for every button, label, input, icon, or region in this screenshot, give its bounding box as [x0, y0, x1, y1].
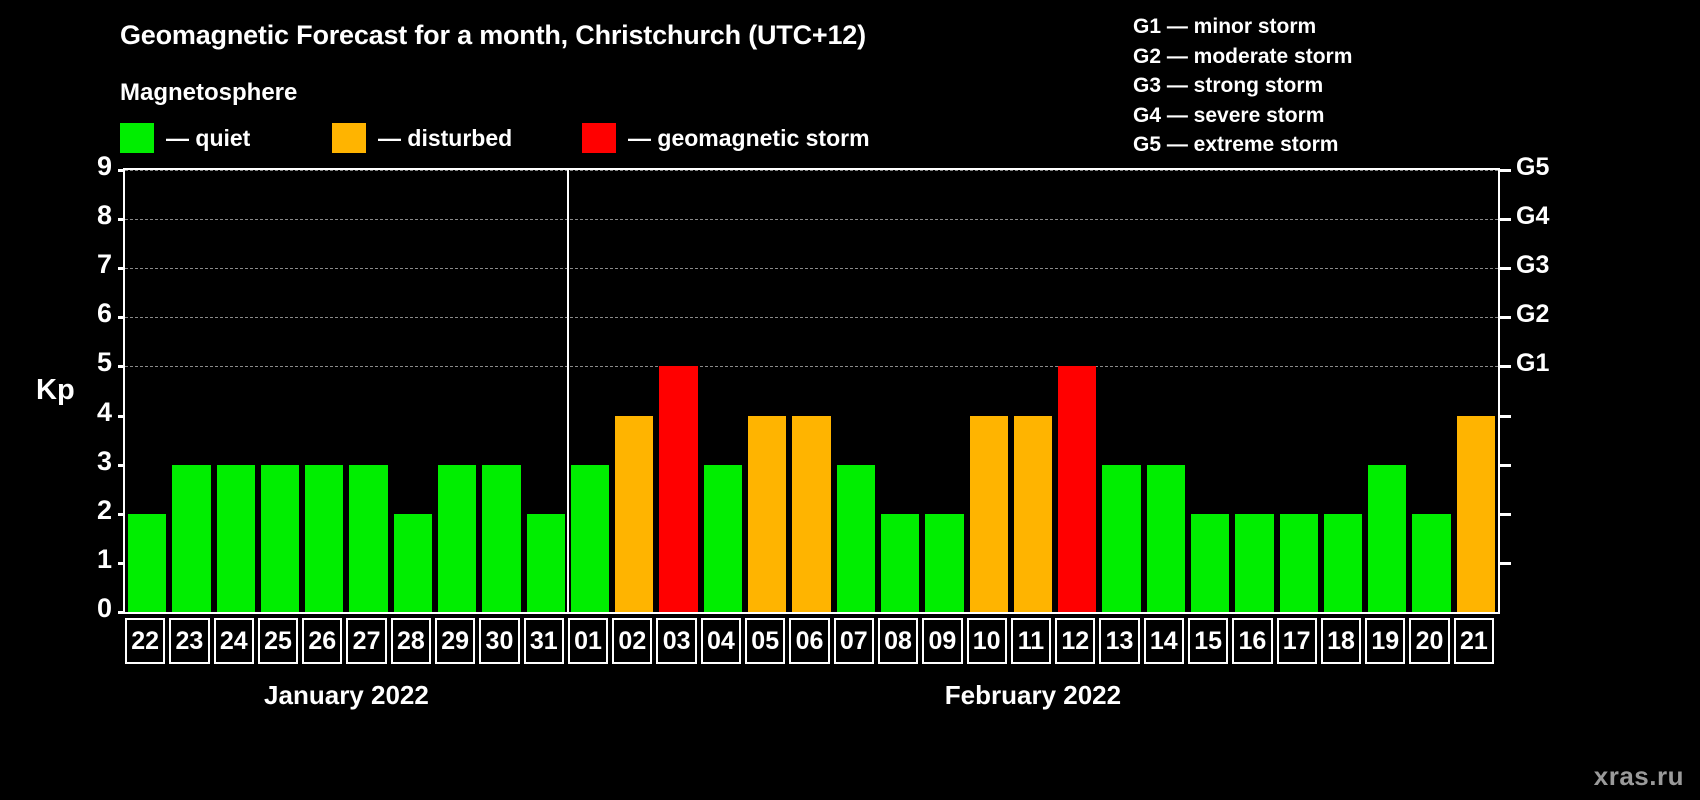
date-cell-15: 15 — [1188, 618, 1228, 664]
bar-30 — [482, 465, 520, 612]
bar-03 — [659, 366, 697, 612]
bar-07 — [837, 465, 875, 612]
date-cell-12: 12 — [1055, 618, 1095, 664]
date-cell-03: 03 — [656, 618, 696, 664]
bar-23 — [172, 465, 210, 612]
y-tick-label-5: 5 — [72, 347, 112, 378]
bar-25 — [261, 465, 299, 612]
date-cell-09: 09 — [922, 618, 962, 664]
legend-swatch-storm-icon — [582, 123, 616, 153]
y-tick-label-3: 3 — [72, 446, 112, 477]
bar-26 — [305, 465, 343, 612]
bar-12 — [1058, 366, 1096, 612]
bar-18 — [1324, 514, 1362, 612]
g-tick-label-G3: G3 — [1516, 251, 1549, 280]
y-tick-label-2: 2 — [72, 495, 112, 526]
legend-item-storm: — geomagnetic storm — [582, 122, 870, 154]
date-cell-13: 13 — [1099, 618, 1139, 664]
date-cell-01: 01 — [568, 618, 608, 664]
bar-15 — [1191, 514, 1229, 612]
date-cell-14: 14 — [1144, 618, 1184, 664]
g-tick-mark-minor-kp-2 — [1500, 513, 1511, 516]
bar-01 — [571, 465, 609, 612]
gscale-legend-line-1: G1 — minor storm — [1133, 12, 1352, 42]
date-cell-06: 06 — [789, 618, 829, 664]
plot-inner — [125, 170, 1498, 612]
g-tick-label-G4: G4 — [1516, 202, 1549, 231]
bar-10 — [970, 416, 1008, 612]
y-tick-label-1: 1 — [72, 544, 112, 575]
date-cell-23: 23 — [169, 618, 209, 664]
g-tick-mark-G4 — [1500, 218, 1511, 221]
bar-09 — [925, 514, 963, 612]
bar-08 — [881, 514, 919, 612]
legend-item-disturbed: — disturbed — [332, 122, 512, 154]
date-axis: 2223242526272829303101020304050607080910… — [123, 618, 1500, 664]
legend-label-quiet: — quiet — [166, 125, 250, 152]
bar-17 — [1280, 514, 1318, 612]
date-cell-25: 25 — [258, 618, 298, 664]
y-tick-label-7: 7 — [72, 249, 112, 280]
date-cell-02: 02 — [612, 618, 652, 664]
bar-11 — [1014, 416, 1052, 612]
date-cell-30: 30 — [479, 618, 519, 664]
g-tick-label-G5: G5 — [1516, 153, 1549, 182]
bar-22 — [128, 514, 166, 612]
legend-heading: Magnetosphere — [120, 79, 297, 107]
g-tick-label-G1: G1 — [1516, 349, 1549, 378]
date-cell-16: 16 — [1232, 618, 1272, 664]
legend-item-quiet: — quiet — [120, 122, 250, 154]
gscale-legend: G1 — minor stormG2 — moderate stormG3 — … — [1133, 12, 1352, 160]
date-cell-19: 19 — [1365, 618, 1405, 664]
date-cell-05: 05 — [745, 618, 785, 664]
date-cell-07: 07 — [834, 618, 874, 664]
bar-02 — [615, 416, 653, 612]
gscale-legend-line-5: G5 — extreme storm — [1133, 130, 1352, 160]
bar-06 — [792, 416, 830, 612]
y-tick-label-8: 8 — [72, 200, 112, 231]
y-tick-label-9: 9 — [72, 151, 112, 182]
g-tick-mark-minor-kp-4 — [1500, 415, 1511, 418]
bar-31 — [527, 514, 565, 612]
date-cell-29: 29 — [435, 618, 475, 664]
bars-layer — [125, 170, 1498, 612]
date-cell-21: 21 — [1454, 618, 1494, 664]
bar-05 — [748, 416, 786, 612]
date-cell-11: 11 — [1011, 618, 1051, 664]
month-divider — [567, 170, 569, 612]
bar-20 — [1412, 514, 1450, 612]
bar-19 — [1368, 465, 1406, 612]
bar-14 — [1147, 465, 1185, 612]
bar-27 — [349, 465, 387, 612]
y-tick-label-4: 4 — [72, 397, 112, 428]
bar-16 — [1235, 514, 1273, 612]
y-tick-label-6: 6 — [72, 298, 112, 329]
g-tick-mark-G3 — [1500, 267, 1511, 270]
date-cell-31: 31 — [524, 618, 564, 664]
date-cell-10: 10 — [967, 618, 1007, 664]
month-caption-1: January 2022 — [125, 680, 568, 711]
bar-13 — [1102, 465, 1140, 612]
date-cell-18: 18 — [1321, 618, 1361, 664]
bar-04 — [704, 465, 742, 612]
date-cell-20: 20 — [1409, 618, 1449, 664]
date-cell-08: 08 — [878, 618, 918, 664]
watermark: xras.ru — [1594, 761, 1684, 792]
geomagnetic-forecast-chart: Geomagnetic Forecast for a month, Christ… — [0, 0, 1700, 800]
y-axis-title: Kp — [36, 374, 75, 407]
month-caption-2: February 2022 — [568, 680, 1498, 711]
legend-swatch-quiet-icon — [120, 123, 154, 153]
g-tick-mark-G2 — [1500, 316, 1511, 319]
gscale-legend-line-2: G2 — moderate storm — [1133, 42, 1352, 72]
bar-29 — [438, 465, 476, 612]
plot-area — [123, 168, 1500, 614]
date-cell-04: 04 — [701, 618, 741, 664]
g-tick-mark-minor-kp-3 — [1500, 464, 1511, 467]
g-tick-mark-G5 — [1500, 169, 1511, 172]
g-tick-label-G2: G2 — [1516, 300, 1549, 329]
gscale-legend-line-4: G4 — severe storm — [1133, 101, 1352, 131]
bar-24 — [217, 465, 255, 612]
page-title: Geomagnetic Forecast for a month, Christ… — [120, 20, 866, 51]
y-tick-label-0: 0 — [72, 593, 112, 624]
legend-swatch-disturbed-icon — [332, 123, 366, 153]
gscale-legend-line-3: G3 — strong storm — [1133, 71, 1352, 101]
date-cell-17: 17 — [1277, 618, 1317, 664]
date-cell-26: 26 — [302, 618, 342, 664]
g-tick-mark-G1 — [1500, 365, 1511, 368]
date-cell-27: 27 — [346, 618, 386, 664]
bar-21 — [1457, 416, 1495, 612]
legend-label-disturbed: — disturbed — [378, 125, 512, 152]
legend-label-storm: — geomagnetic storm — [628, 125, 870, 152]
g-tick-mark-minor-kp-1 — [1500, 562, 1511, 565]
date-cell-22: 22 — [125, 618, 165, 664]
date-cell-28: 28 — [391, 618, 431, 664]
bar-28 — [394, 514, 432, 612]
date-cell-24: 24 — [214, 618, 254, 664]
